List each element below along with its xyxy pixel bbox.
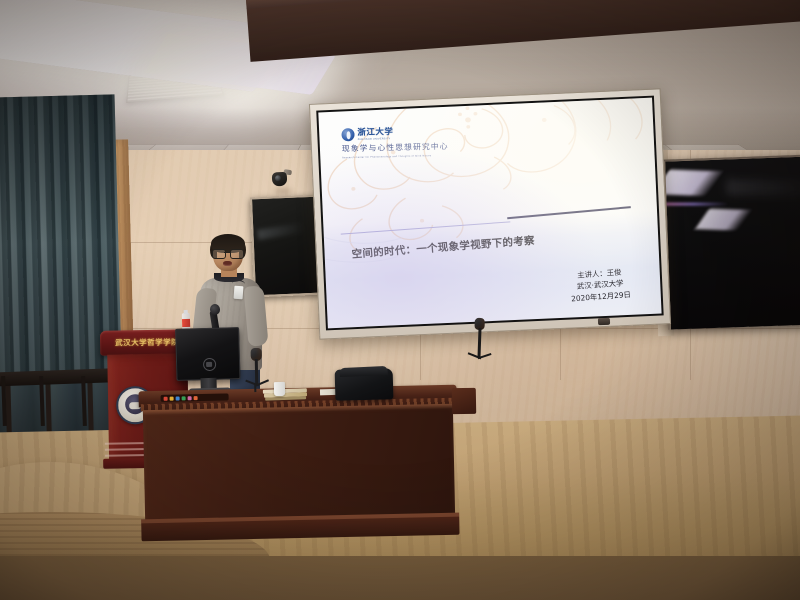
presenter-desk <box>138 385 459 542</box>
slide-logo-block: 浙江大学 ZHEJIANG UNIVERSITY 现象学与心性思想研究中心 Re… <box>341 124 549 159</box>
presentation-slide: 浙江大学 ZHEJIANG UNIVERSITY 现象学与心性思想研究中心 Re… <box>318 98 661 329</box>
floor-foreground <box>0 556 800 600</box>
television-ambient-glow <box>726 179 800 197</box>
laptop-bag <box>335 366 394 401</box>
speaker-right-arm <box>243 285 268 347</box>
bottle-label <box>182 319 190 327</box>
television-light-reflection <box>662 170 723 197</box>
camera-shadow <box>270 186 296 196</box>
desktop-monitor[interactable] <box>175 327 241 395</box>
television-color-flare <box>662 203 729 206</box>
control-panel-led[interactable] <box>188 396 192 400</box>
second-microphone-stand <box>467 318 495 369</box>
microphone-rod <box>477 328 481 358</box>
wall-television-right <box>662 154 800 329</box>
slide-divider-light <box>340 221 510 234</box>
security-camera-icon <box>272 169 293 187</box>
university-name-en: ZHEJIANG UNIVERSITY <box>357 137 393 141</box>
television-light-reflection-secondary <box>695 209 751 231</box>
control-panel-led[interactable] <box>182 396 186 400</box>
camera-lens <box>274 175 280 181</box>
control-panel-led[interactable] <box>170 396 174 400</box>
speaker-mouth <box>223 261 232 266</box>
eyeglass-lens-right <box>230 249 244 259</box>
screen-mount-knob <box>598 318 610 326</box>
eyeglass-lens-left <box>212 249 226 259</box>
university-name-cn: 浙江大学 <box>357 128 393 137</box>
desk-front-panel <box>143 404 455 530</box>
paper-cup <box>274 382 285 396</box>
bottle-cap <box>184 310 188 314</box>
control-panel-led[interactable] <box>194 396 198 400</box>
speaker-name-badge <box>234 286 244 300</box>
av-control-panel[interactable] <box>161 393 229 401</box>
slide-metadata: 主讲人：王俊 武汉·武汉大学 2020年12月29日 <box>569 266 631 304</box>
side-chair <box>452 388 476 414</box>
projection-screen-bezel: 浙江大学 ZHEJIANG UNIVERSITY 现象学与心性思想研究中心 Re… <box>316 96 663 331</box>
microphone-rod <box>255 359 258 385</box>
eyeglass-bridge <box>224 252 230 253</box>
projection-screen: 浙江大学 ZHEJIANG UNIVERSITY 现象学与心性思想研究中心 Re… <box>309 88 671 339</box>
zhejiang-university-emblem-icon <box>341 129 354 142</box>
lecture-hall-photo: 浙江大学 ZHEJIANG UNIVERSITY 现象学与心性思想研究中心 Re… <box>0 0 800 600</box>
eyeglasses-icon <box>212 249 244 257</box>
slide-divider-dark <box>507 207 630 220</box>
monitor-screen[interactable] <box>175 327 240 381</box>
control-panel-led[interactable] <box>164 396 168 400</box>
microphone-tripod-leg <box>254 383 256 392</box>
control-panel-led[interactable] <box>176 396 180 400</box>
